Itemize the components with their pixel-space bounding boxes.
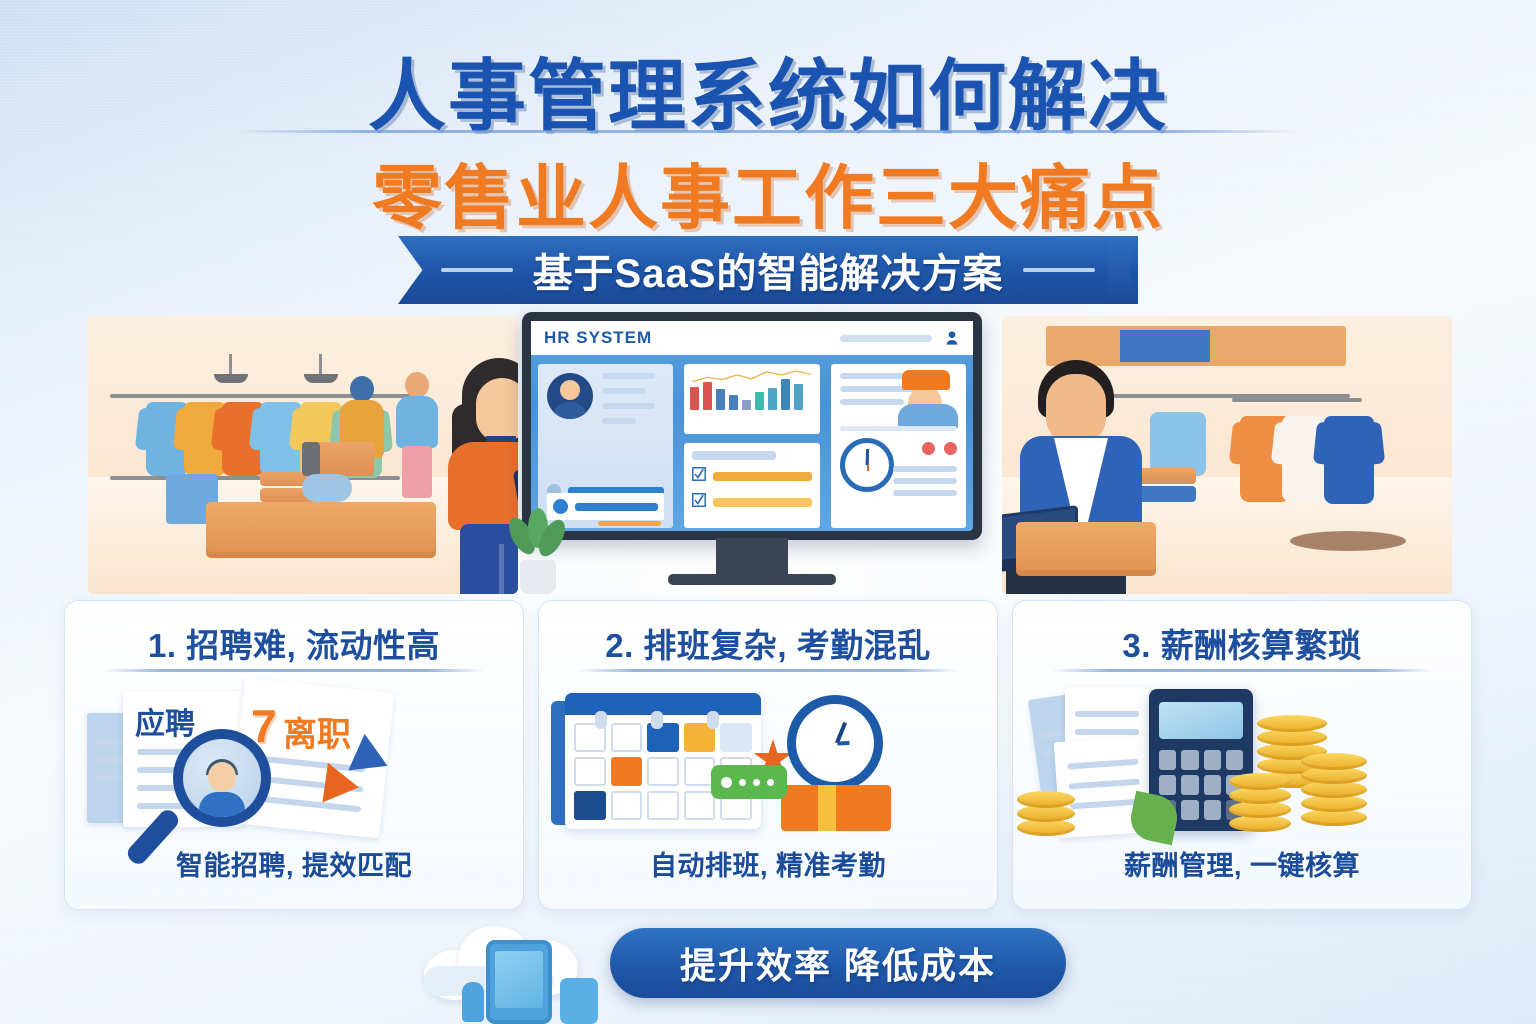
panel-attendance[interactable] (831, 364, 966, 528)
card-1-number: 1. (148, 627, 177, 664)
staff-leg-split (499, 544, 504, 594)
footer-banner-text: 提升效率 降低成本 (680, 937, 996, 989)
rack-base-shadow (1290, 531, 1406, 551)
pain-point-card-1[interactable]: 1. 招聘难, 流动性高 应聘 7 离职 (64, 600, 524, 910)
seating-block (1016, 522, 1156, 576)
attendance-clock-icon (840, 438, 894, 492)
card-1-footer: 智能招聘, 提效匹配 (65, 844, 523, 883)
page-title-line2: 零售业人事工作三大痛点 (0, 142, 1536, 243)
ceiling-lamp (214, 374, 248, 383)
display-box-dark (302, 442, 320, 476)
clothing-rack-bar (1232, 398, 1362, 402)
reward-box-icon (781, 785, 891, 831)
retail-store-scene-right (1002, 316, 1452, 594)
ceiling-lamp (304, 374, 338, 383)
status-indicators (922, 442, 957, 455)
retail-store-scene-left (88, 316, 518, 594)
infographic-root: 人事管理系统如何解决 零售业人事工作三大痛点 基于SaaS的智能解决方案 (0, 0, 1536, 1024)
ribbon-dash-right (1023, 268, 1095, 272)
checkbox-checked-icon[interactable] (692, 467, 706, 486)
card-2-heading: 2. 排班复杂, 考勤混乱 (539, 619, 997, 667)
store-staff-with-tablet (440, 358, 518, 594)
coin-stack (1301, 749, 1367, 827)
store-counter (206, 502, 436, 558)
calendar-ring (595, 711, 607, 729)
round-goods (302, 474, 352, 502)
card-2-divider (577, 669, 959, 672)
user-avatar-icon[interactable] (944, 330, 960, 346)
title-divider (238, 130, 1298, 133)
potted-plant (510, 502, 566, 594)
hero-illustration: HR SYSTEM (78, 312, 1458, 594)
signboard-poster (1120, 330, 1210, 362)
progress-bar (575, 503, 658, 511)
card-2-title: 排班复杂, 考勤混乱 (643, 627, 930, 664)
magnifier-icon (173, 729, 271, 827)
card-3-divider (1051, 669, 1433, 672)
bar-chart-card[interactable] (684, 364, 819, 434)
pain-point-card-2[interactable]: 2. 排班复杂, 考勤混乱 (538, 600, 998, 910)
pain-point-cards: 1. 招聘难, 流动性高 应聘 7 离职 (64, 600, 1472, 910)
card-3-title: 薪酬核算繁琐 (1161, 627, 1362, 664)
footer-banner-pill: 提升效率 降低成本 (610, 928, 1066, 998)
card-2-number: 2. (605, 627, 634, 664)
checkbox-checked-icon[interactable] (692, 493, 706, 512)
monitor-frame: HR SYSTEM (522, 312, 982, 540)
notification-bubble-icon (711, 765, 787, 799)
panel-analytics[interactable] (684, 364, 819, 528)
monitor-stand-neck (716, 538, 788, 578)
staff-torso (448, 442, 518, 530)
search-input[interactable] (840, 335, 932, 342)
checklist-card[interactable] (684, 443, 819, 529)
accent-underline (598, 521, 661, 526)
coin-stack (1229, 769, 1291, 831)
employee-photo-badge (898, 368, 960, 424)
candidate-photo (199, 762, 245, 827)
calendar-ring (707, 711, 719, 729)
subtitle-ribbon: 基于SaaS的智能解决方案 (398, 236, 1138, 304)
card-1-illustration: 应聘 7 离职 (65, 677, 523, 841)
clock-icon (787, 695, 883, 791)
hr-system-monitor: HR SYSTEM (522, 312, 982, 594)
ribbon-label: 基于SaaS的智能解决方案 (533, 241, 1004, 299)
card-1-divider (103, 669, 485, 672)
tablet-device-icon (486, 940, 552, 1024)
employee-avatar (547, 373, 593, 419)
app-title: HR SYSTEM (544, 328, 652, 348)
dashboard-panels (538, 364, 966, 528)
card-3-heading: 3. 薪酬核算繁琐 (1013, 619, 1471, 667)
card-3-illustration (1013, 677, 1471, 841)
calendar-ring (651, 711, 663, 729)
coin-stack (1017, 781, 1075, 835)
divider (840, 426, 957, 431)
mobile-device-icon (560, 978, 598, 1024)
card-2-illustration (539, 677, 997, 841)
calendar-cell-checked (574, 791, 606, 820)
app-top-bar: HR SYSTEM (531, 321, 973, 355)
footer-banner: 提升效率 降低成本 (418, 916, 1068, 1020)
card-2-footer: 自动排班, 精准考勤 (539, 844, 997, 883)
card-1-heading: 1. 招聘难, 流动性高 (65, 619, 523, 667)
staff-face (476, 378, 518, 442)
card-1-stamp-orange: 离职 (283, 707, 351, 756)
card-1-stamp-blue: 应聘 (135, 699, 195, 743)
hand-icon (462, 982, 484, 1022)
manager-face (1046, 374, 1106, 444)
card-3-number: 3. (1122, 627, 1151, 664)
ribbon-dash-left (441, 268, 513, 272)
trend-line (690, 368, 813, 388)
arrow-orange-icon (322, 763, 361, 807)
calendar-cell-conflict (611, 757, 643, 786)
hanging-jacket (1324, 416, 1374, 504)
pain-point-card-3[interactable]: 3. 薪酬核算繁琐 (1012, 600, 1472, 910)
card-1-title: 招聘难, 流动性高 (186, 627, 440, 664)
monitor-stand-base (668, 574, 836, 585)
card-3-footer: 薪酬管理, 一键核算 (1013, 844, 1471, 883)
